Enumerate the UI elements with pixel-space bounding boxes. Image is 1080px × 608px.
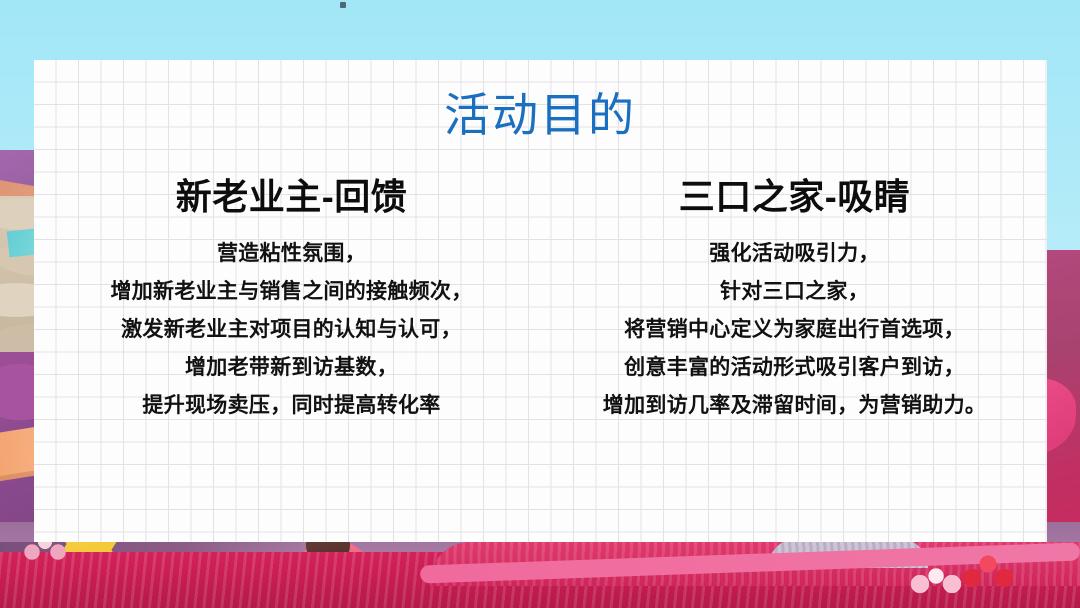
column-right-heading: 三口之家-吸睛 [543,174,1046,219]
content-columns: 新老业主-回馈 营造粘性氛围， 增加新老业主与销售之间的接触频次， 激发新老业主… [40,174,1046,425]
column-right-line-1: 强化活动吸引力， [543,235,1046,273]
column-left-line-3: 激发新老业主对项目的认知与认可， [40,311,543,349]
column-right: 三口之家-吸睛 强化活动吸引力， 针对三口之家， 将营销中心定义为家庭出行首选项… [543,174,1046,425]
decorative-artwork-flower-red [958,548,1018,594]
decorative-speck [340,2,346,8]
column-right-line-2: 针对三口之家， [543,273,1046,311]
column-right-line-4: 创意丰富的活动形式吸引客户到访， [543,349,1046,387]
column-right-body: 强化活动吸引力， 针对三口之家， 将营销中心定义为家庭出行首选项， 创意丰富的活… [543,235,1046,425]
column-left-heading: 新老业主-回馈 [40,174,543,219]
column-left: 新老业主-回馈 营造粘性氛围， 增加新老业主与销售之间的接触频次， 激发新老业主… [40,174,543,425]
column-left-body: 营造粘性氛围， 增加新老业主与销售之间的接触频次， 激发新老业主对项目的认知与认… [40,235,543,425]
presentation-slide: 活动目的 新老业主-回馈 营造粘性氛围， 增加新老业主与销售之间的接触频次， 激… [0,0,1080,608]
column-left-line-2: 增加新老业主与销售之间的接触频次， [40,273,543,311]
column-left-line-5: 提升现场卖压，同时提高转化率 [40,387,543,425]
column-left-line-1: 营造粘性氛围， [40,235,543,273]
decorative-artwork-flower-pale [908,558,964,600]
column-left-line-4: 增加老带新到访基数， [40,349,543,387]
column-right-line-5: 增加到访几率及滞留时间，为营销助力。 [543,387,1046,425]
slide-title: 活动目的 [0,88,1080,143]
column-right-line-3: 将营销中心定义为家庭出行首选项， [543,311,1046,349]
